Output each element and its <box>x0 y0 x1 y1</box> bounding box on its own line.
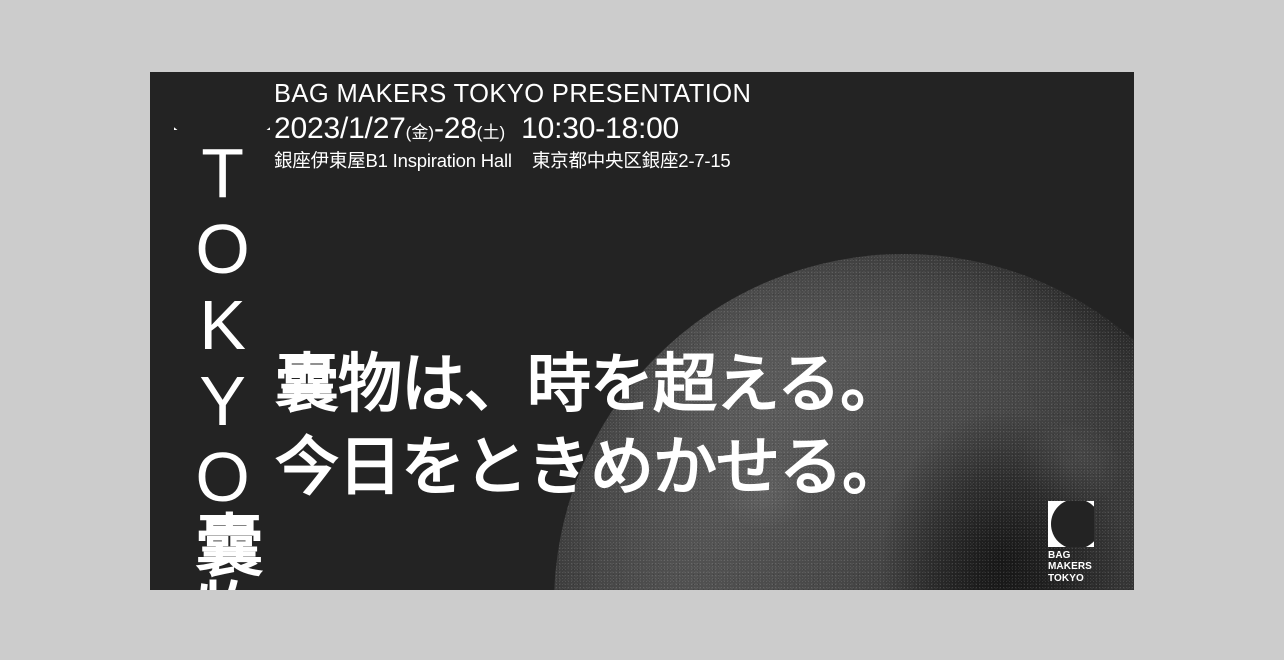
brand-logo-line-3: TOKYO <box>1048 573 1108 584</box>
date-dash: - <box>434 111 444 146</box>
poster-stage: TOKYO 囊物展 BAG MAKERS TOKYO PRESENTATION … <box>0 0 1284 660</box>
venue-name: 銀座伊東屋B1 Inspiration Hall <box>274 150 512 172</box>
brand-logo-text: BAG MAKERS TOKYO <box>1048 550 1108 584</box>
date-start-dayofweek: (金) <box>406 123 434 143</box>
brand-logo: BAG MAKERS TOKYO <box>1048 501 1108 584</box>
date-end-dayofweek: (土) <box>477 123 505 143</box>
headline: 囊物は、時を超える。 今日をときめかせる。 <box>275 344 905 510</box>
event-time: 10:30-18:00 <box>521 111 679 146</box>
vertical-title-column: TOKYO 囊物展 <box>168 78 276 584</box>
header-info: BAG MAKERS TOKYO PRESENTATION 2023/1/27 … <box>274 80 751 172</box>
date-end: 28 <box>444 111 477 146</box>
headline-line-2: 今日をときめかせる。 <box>275 427 905 510</box>
presentation-eyebrow: BAG MAKERS TOKYO PRESENTATION <box>274 80 751 110</box>
venue-address: 東京都中央区銀座2-7-15 <box>532 150 731 172</box>
venue-line: 銀座伊東屋B1 Inspiration Hall 東京都中央区銀座2-7-15 <box>274 150 751 172</box>
headline-line-1: 囊物は、時を超える。 <box>275 344 905 427</box>
bracket-top-ornament <box>174 78 270 130</box>
vertical-title-latin: TOKYO <box>188 134 255 514</box>
vertical-title-text: TOKYO 囊物展 <box>188 130 256 590</box>
brand-logo-line-2: MAKERS <box>1048 561 1108 572</box>
date-line: 2023/1/27 (金) - 28 (土) 10:30-18:00 <box>274 111 751 146</box>
vertical-title-japanese: 囊物展 <box>188 510 256 590</box>
poster: TOKYO 囊物展 BAG MAKERS TOKYO PRESENTATION … <box>150 72 1134 590</box>
brand-logo-line-1: BAG <box>1048 550 1108 561</box>
bag-makers-tokyo-circle-mark-icon <box>1048 501 1094 547</box>
date-start: 2023/1/27 <box>274 111 406 146</box>
